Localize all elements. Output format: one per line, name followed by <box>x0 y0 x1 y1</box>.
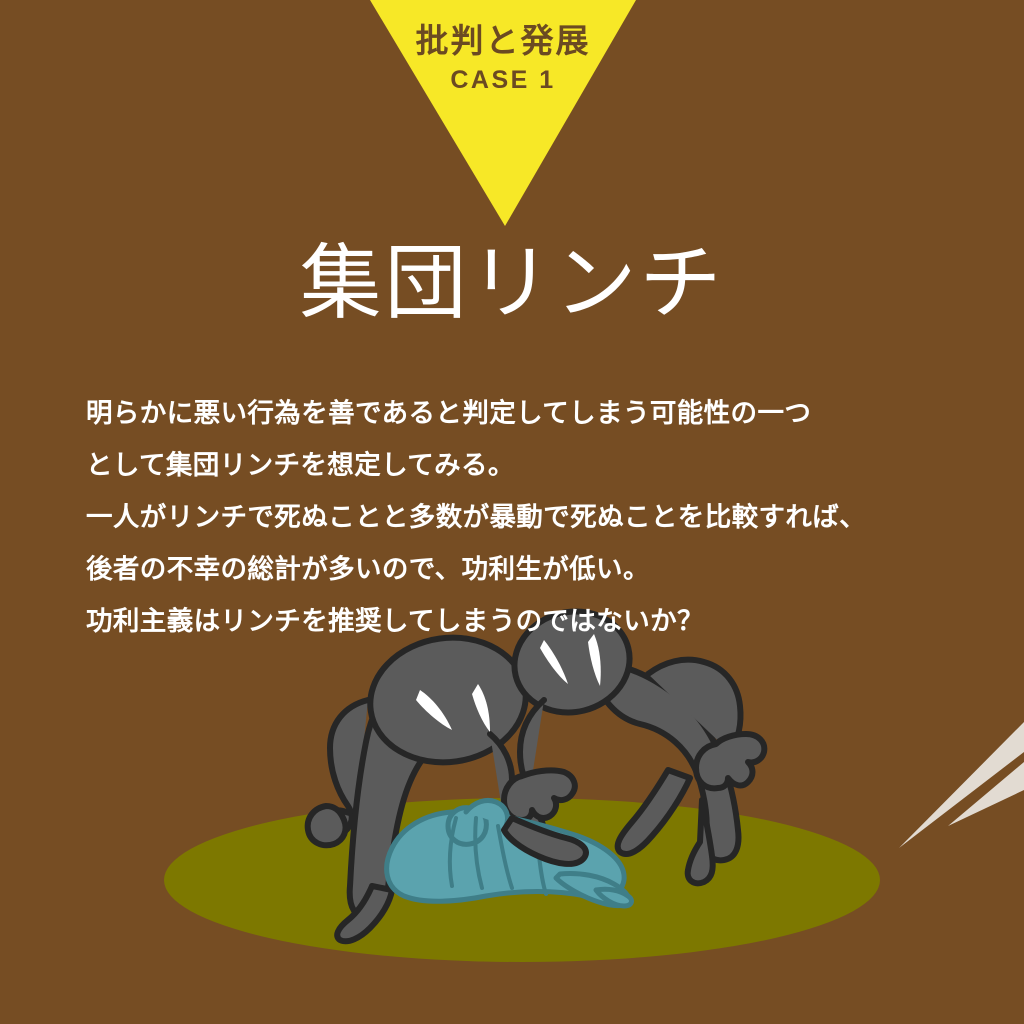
body-paragraph: 明らかに悪い行為を善であると判定してしまう可能性の一つ として集団リンチを想定し… <box>86 387 966 647</box>
body-line: として集団リンチを想定してみる。 <box>86 439 966 491</box>
banner-text-group: 批判と発展 CASE 1 <box>370 22 636 96</box>
body-line: 明らかに悪い行為を善であると判定してしまう可能性の一つ <box>86 387 966 439</box>
attacker-left-hand-far <box>308 806 346 845</box>
banner-subtitle: CASE 1 <box>370 64 636 97</box>
body-line: 後者の不幸の総計が多いので、功利生が低い。 <box>86 543 966 595</box>
slide-canvas: 批判と発展 CASE 1 集団リンチ 明らかに悪い行為を善であると判定してしまう… <box>0 0 1024 1024</box>
body-line: 功利主義はリンチを推奨してしまうのではないか？ <box>86 595 966 647</box>
speed-lines-icon <box>899 722 1024 848</box>
banner-title: 批判と発展 <box>370 22 636 60</box>
body-line: 一人がリンチで死ぬことと多数が暴動で死ぬことを比較すれば、 <box>86 491 966 543</box>
page-title: 集団リンチ <box>0 243 1024 325</box>
